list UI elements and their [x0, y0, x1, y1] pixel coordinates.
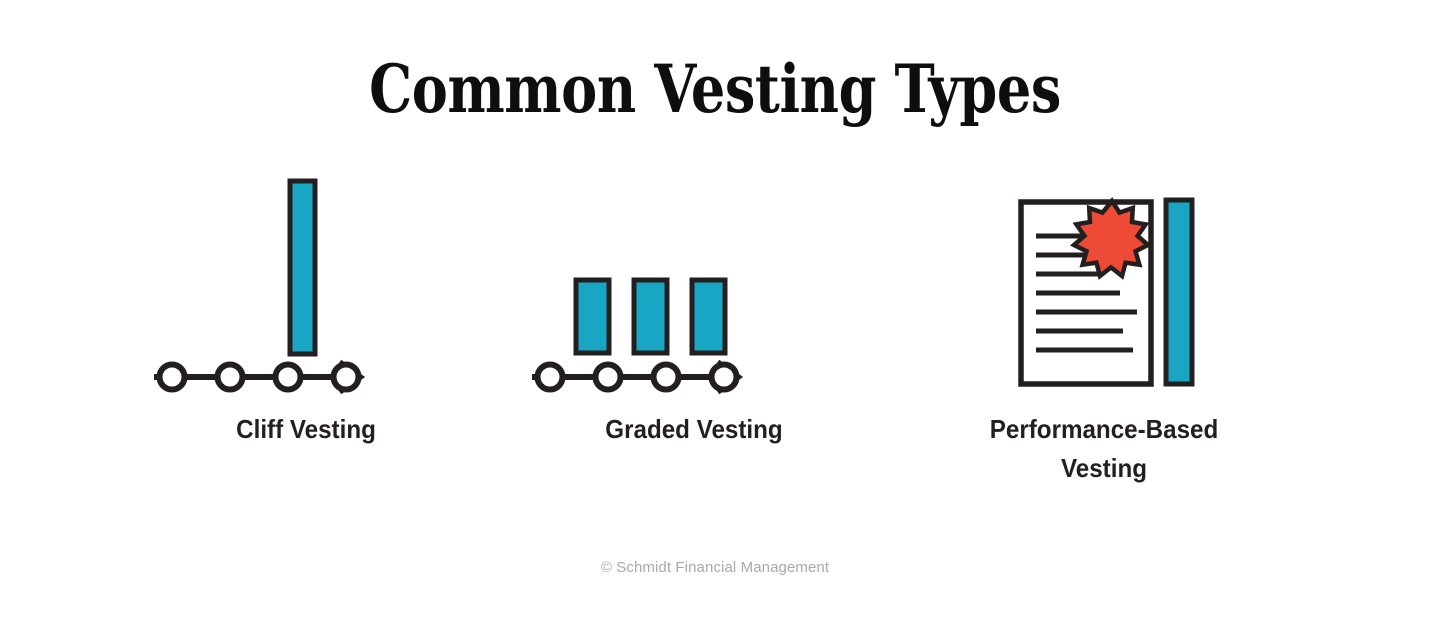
cliff-vesting-illustration — [136, 170, 476, 395]
vesting-type-graded[interactable]: Graded Vesting — [524, 170, 864, 500]
infographic-canvas: Common Vesting Types — [0, 0, 1430, 638]
document-icon — [1021, 201, 1151, 384]
graded-vesting-illustration — [524, 170, 864, 395]
vesting-type-label-graded: Graded Vesting — [536, 410, 852, 449]
cliff-bar — [290, 181, 315, 354]
performance-bar — [1166, 200, 1192, 384]
vesting-types-row: Cliff Vesting — [0, 170, 1430, 500]
vesting-type-cliff[interactable]: Cliff Vesting — [136, 170, 476, 500]
performance-vesting-illustration — [934, 170, 1274, 395]
vesting-type-label-performance: Performance-Based Vesting — [946, 410, 1262, 488]
vesting-type-label-cliff: Cliff Vesting — [148, 410, 464, 449]
footer-credit: © Schmidt Financial Management — [0, 559, 1430, 576]
graded-bars — [576, 280, 725, 353]
vesting-type-performance[interactable]: Performance-Based Vesting — [934, 170, 1274, 500]
page-title: Common Vesting Types — [129, 56, 1302, 122]
